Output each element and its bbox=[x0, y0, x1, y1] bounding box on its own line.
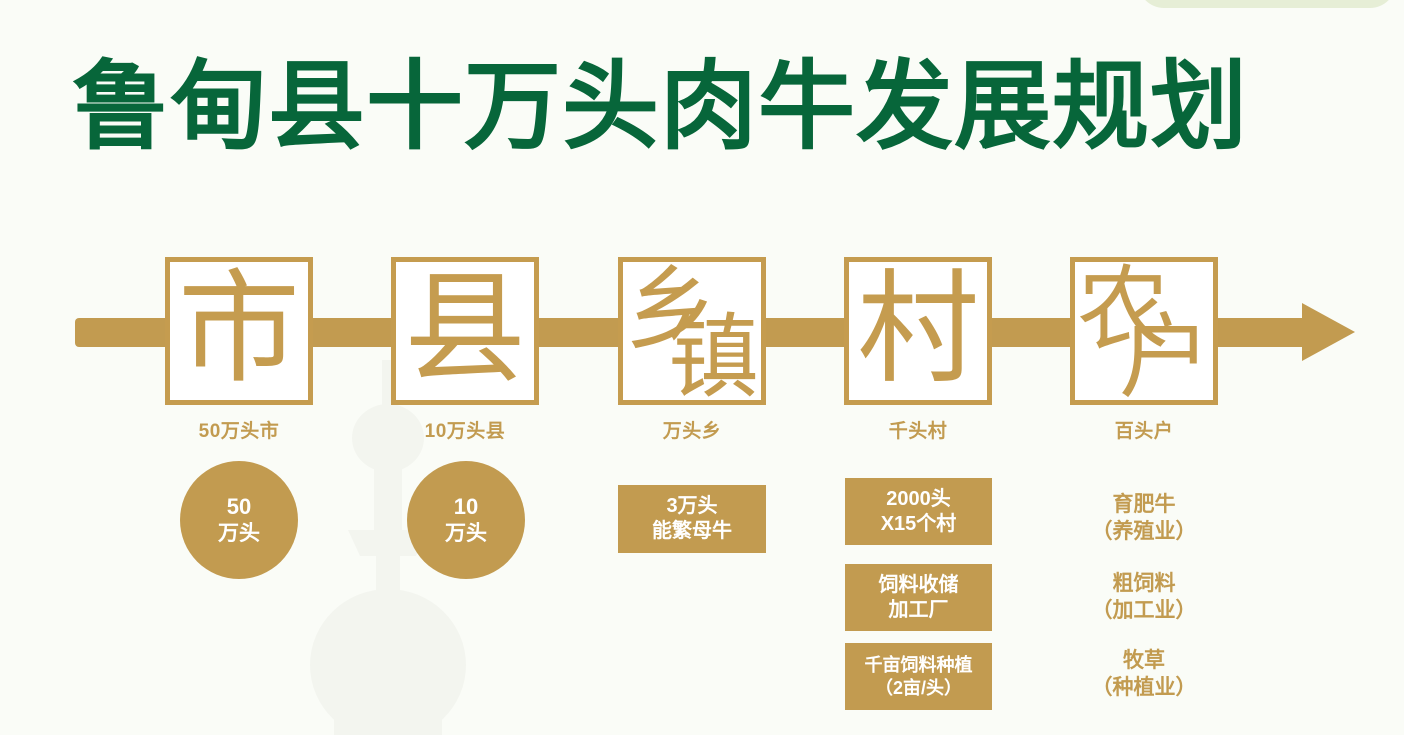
top-right-green-band bbox=[1138, 0, 1396, 8]
metric-chip-village-3-line2: （2亩/头） bbox=[875, 677, 962, 700]
flow-node-label-township: 万头乡 bbox=[592, 416, 792, 443]
metric-chip-village-2-line1: 饲料收储 bbox=[879, 573, 959, 598]
metric-chip-township-1-line2: 能繁母牛 bbox=[652, 519, 732, 544]
metric-chip-village-3[interactable]: 千亩饲料种植 （2亩/头） bbox=[845, 643, 992, 710]
metric-text-household-1: 育肥牛 （养殖业） bbox=[1044, 492, 1244, 546]
metric-text-household-2-line1: 粗饲料 bbox=[1044, 571, 1244, 598]
flow-node-city[interactable]: 市 bbox=[165, 257, 313, 405]
flow-node-county[interactable]: 县 bbox=[391, 257, 539, 405]
metric-chip-township-1[interactable]: 3万头 能繁母牛 bbox=[618, 485, 766, 553]
flow-node-label-village: 千头村 bbox=[818, 416, 1018, 443]
metric-text-household-1-line1: 育肥牛 bbox=[1044, 492, 1244, 519]
metric-chip-village-2[interactable]: 饲料收储 加工厂 bbox=[845, 564, 992, 631]
node-glyph-village: 村 bbox=[849, 262, 987, 400]
page-title: 鲁甸县十万头肉牛发展规划 bbox=[72, 55, 1248, 160]
metric-circle-city-value: 50 bbox=[227, 494, 251, 521]
node-glyph-city: 市 bbox=[170, 262, 308, 400]
node-glyph-township-b: 镇 bbox=[667, 312, 759, 404]
metric-text-household-3: 牧草 （种植业） bbox=[1044, 648, 1244, 702]
right-arrow-icon bbox=[1302, 303, 1355, 361]
metric-text-household-3-line1: 牧草 bbox=[1044, 648, 1244, 675]
flow-node-label-household: 百头户 bbox=[1044, 416, 1244, 443]
flow-node-label-city: 50万头市 bbox=[139, 416, 339, 443]
metric-text-household-2: 粗饲料 （加工业） bbox=[1044, 571, 1244, 625]
metric-circle-city[interactable]: 50 万头 bbox=[180, 461, 298, 579]
flow-node-label-county: 10万头县 bbox=[365, 416, 565, 443]
metric-chip-village-1[interactable]: 2000头 X15个村 bbox=[845, 478, 992, 545]
node-glyph-county: 县 bbox=[396, 262, 534, 400]
node-glyph-household-b: 户 bbox=[1119, 312, 1211, 404]
metric-chip-village-1-line1: 2000头 bbox=[886, 487, 951, 512]
metric-chip-township-1-line1: 3万头 bbox=[666, 494, 717, 519]
metric-chip-village-2-line2: 加工厂 bbox=[889, 598, 949, 623]
metric-text-household-1-line2: （养殖业） bbox=[1044, 519, 1244, 546]
slide-canvas: 鲁甸县十万头肉牛发展规划 市 50万头市 县 10万头县 乡 镇 万头乡 村 千… bbox=[0, 0, 1404, 735]
flow-node-household[interactable]: 农 户 bbox=[1070, 257, 1218, 405]
metric-chip-village-3-line1: 千亩饲料种植 bbox=[865, 654, 973, 677]
flow-node-village[interactable]: 村 bbox=[844, 257, 992, 405]
metric-chip-village-1-line2: X15个村 bbox=[881, 512, 957, 537]
metric-text-household-3-line2: （种植业） bbox=[1044, 675, 1244, 702]
metric-circle-county[interactable]: 10 万头 bbox=[407, 461, 525, 579]
metric-circle-county-unit: 万头 bbox=[445, 521, 487, 547]
metric-circle-city-unit: 万头 bbox=[218, 521, 260, 547]
metric-circle-county-value: 10 bbox=[454, 494, 478, 521]
flow-node-township[interactable]: 乡 镇 bbox=[618, 257, 766, 405]
metric-text-household-2-line2: （加工业） bbox=[1044, 598, 1244, 625]
